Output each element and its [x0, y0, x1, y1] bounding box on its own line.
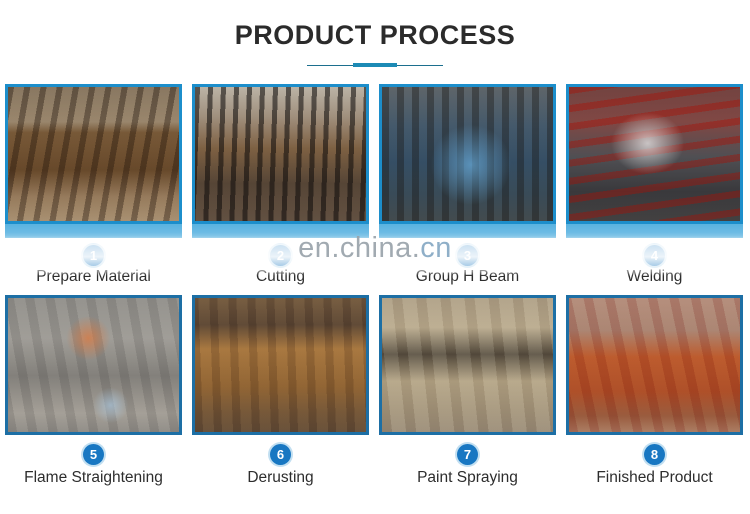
process-step-3[interactable]: 3 Group H Beam	[374, 84, 561, 285]
photo-bottom-band	[566, 224, 743, 238]
step-photo-prepare-material	[8, 87, 179, 221]
step-caption: Paint Spraying	[417, 469, 518, 486]
process-row-1: 1 Prepare Material 2 Cutting 3 Group H B…	[0, 84, 750, 285]
step-photo-frame[interactable]	[192, 295, 369, 435]
process-grid: 1 Prepare Material 2 Cutting 3 Group H B…	[0, 84, 750, 486]
page-header: PRODUCT PROCESS	[0, 0, 750, 71]
step-photo-flame-straightening	[8, 298, 179, 432]
step-photo-paint-spraying	[382, 298, 553, 432]
step-number-badge: 6	[270, 444, 291, 465]
process-step-7[interactable]: 7 Paint Spraying	[374, 295, 561, 486]
step-photo-frame[interactable]	[379, 295, 556, 435]
step-photo-frame[interactable]	[566, 295, 743, 435]
step-number-badge: 3	[457, 245, 478, 266]
divider-thick-line	[353, 63, 397, 67]
step-badge-wrap: 1	[83, 242, 104, 268]
process-step-4[interactable]: 4 Welding	[561, 84, 748, 285]
step-photo-cutting	[195, 87, 366, 221]
step-caption: Flame Straightening	[24, 469, 163, 486]
photo-bottom-band	[192, 224, 369, 238]
step-badge-wrap: 6	[270, 441, 291, 467]
step-badge-wrap: 7	[457, 441, 478, 467]
step-photo-frame[interactable]	[5, 295, 182, 435]
page-title: PRODUCT PROCESS	[0, 22, 750, 49]
step-badge-wrap: 8	[644, 441, 665, 467]
step-photo-frame[interactable]	[192, 84, 369, 224]
step-photo-frame[interactable]	[566, 84, 743, 224]
process-step-5[interactable]: 5 Flame Straightening	[0, 295, 187, 486]
process-step-8[interactable]: 8 Finished Product	[561, 295, 748, 486]
step-photo-group-h-beam	[382, 87, 553, 221]
step-photo-derusting	[195, 298, 366, 432]
process-step-1[interactable]: 1 Prepare Material	[0, 84, 187, 285]
step-number-badge: 8	[644, 444, 665, 465]
step-number-badge: 2	[270, 245, 291, 266]
step-caption: Prepare Material	[36, 268, 151, 285]
step-badge-wrap: 3	[457, 242, 478, 268]
process-step-6[interactable]: 6 Derusting	[187, 295, 374, 486]
step-photo-finished-product	[569, 298, 740, 432]
step-badge-wrap: 4	[644, 242, 665, 268]
step-badge-wrap: 2	[270, 242, 291, 268]
process-step-2[interactable]: 2 Cutting	[187, 84, 374, 285]
step-caption: Derusting	[247, 469, 313, 486]
step-caption: Group H Beam	[416, 268, 519, 285]
step-number-badge: 5	[83, 444, 104, 465]
step-badge-wrap: 5	[83, 441, 104, 467]
step-number-badge: 4	[644, 245, 665, 266]
step-number-badge: 7	[457, 444, 478, 465]
step-number-badge: 1	[83, 245, 104, 266]
step-caption: Welding	[627, 268, 683, 285]
step-caption: Finished Product	[596, 469, 712, 486]
step-photo-frame[interactable]	[5, 84, 182, 224]
step-caption: Cutting	[256, 268, 305, 285]
photo-bottom-band	[5, 224, 182, 238]
process-row-2: 5 Flame Straightening 6 Derusting 7 Pain…	[0, 295, 750, 486]
step-photo-frame[interactable]	[379, 84, 556, 224]
step-photo-welding	[569, 87, 740, 221]
photo-bottom-band	[379, 224, 556, 238]
title-divider	[301, 61, 449, 71]
